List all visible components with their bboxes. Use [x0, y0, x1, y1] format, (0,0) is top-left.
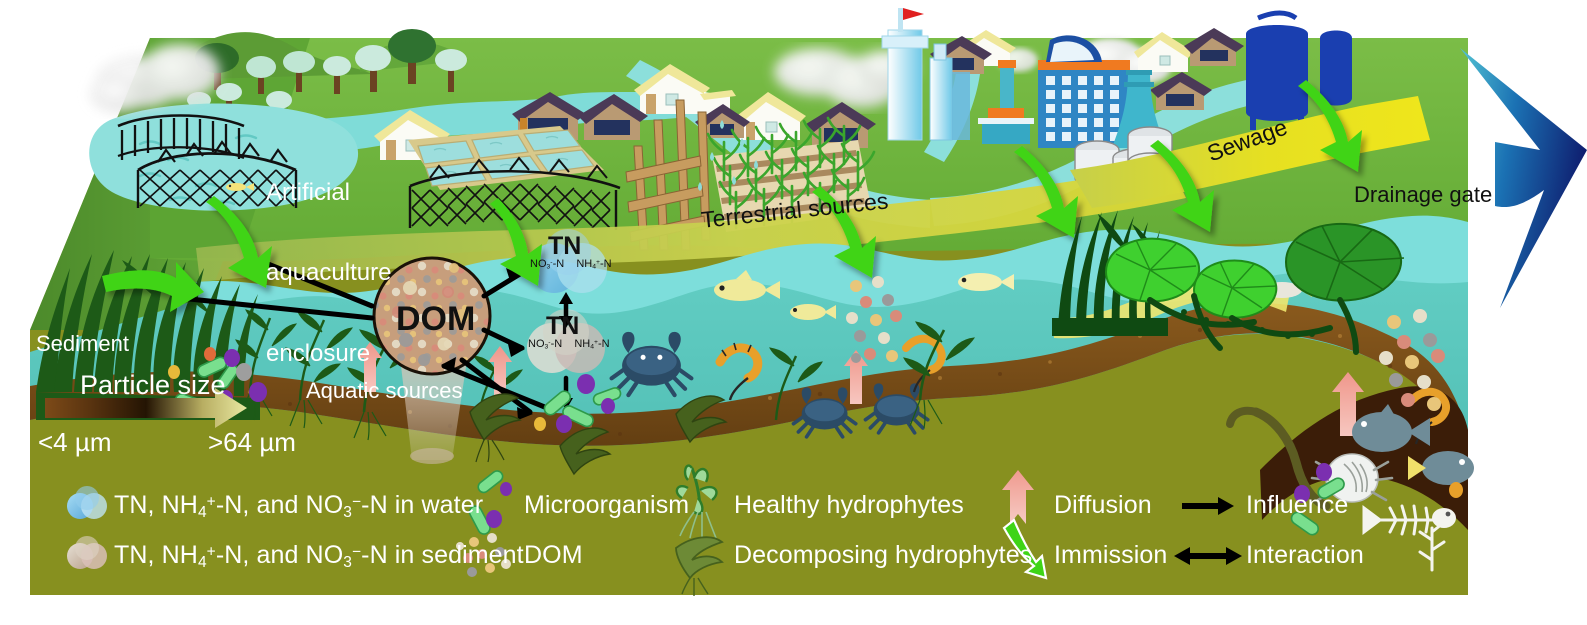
legend-label-healthy-hydrophytes: Healthy hydrophytes — [734, 491, 964, 520]
decomposing-hydrophyte-icon — [676, 537, 722, 596]
influence-arrow-icon — [1182, 497, 1234, 515]
diffusion-arrow-icon — [1002, 470, 1034, 524]
legend-icons — [0, 0, 1587, 625]
legend-label-diffusion: Diffusion — [1054, 491, 1152, 520]
legend-label-immission: Immission — [1054, 541, 1167, 570]
tn-sediment-circle-icon — [67, 536, 107, 569]
legend-label-decomposing-hydrophytes: Decomposing hydrophytes — [734, 541, 1032, 570]
figure-canvas: Artificial aquaculture enclosure Terrest… — [0, 0, 1587, 625]
legend-label-microorganism: Microorganism — [524, 491, 689, 520]
tn-water-circle-icon — [67, 486, 107, 519]
legend-label-interaction: Interaction — [1246, 541, 1364, 570]
legend-label-tn-water: TN, NH4+-N, and NO3−-N in water — [114, 491, 483, 522]
legend-label-tn-sediment: TN, NH4+-N, and NO3−-N in sediment — [114, 541, 524, 572]
legend-label-influence: Influence — [1246, 491, 1348, 520]
legend-label-dom: DOM — [524, 541, 583, 570]
interaction-arrow-icon — [1174, 547, 1242, 565]
